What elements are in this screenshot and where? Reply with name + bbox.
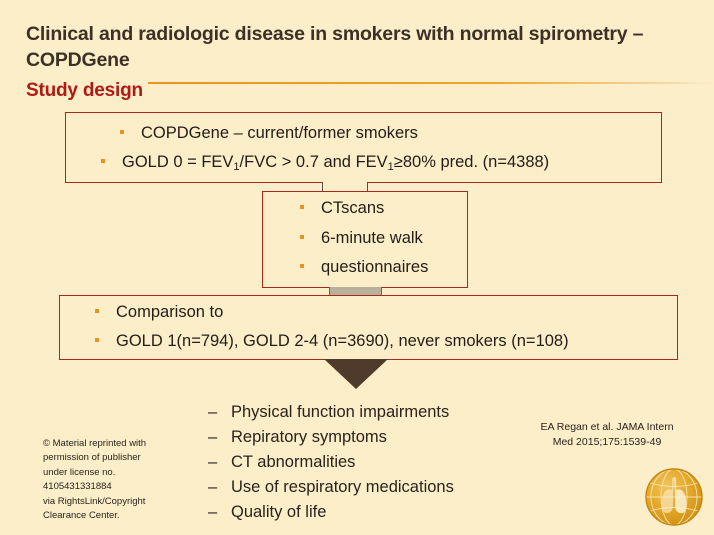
- dash-bullet-icon: –: [208, 400, 231, 425]
- list-item-label: Comparison to: [116, 303, 223, 322]
- copyright-line-1: © Material reprinted with: [43, 437, 183, 451]
- bullet-dot-icon: [300, 235, 304, 239]
- copyright-line-3: under license no.: [43, 466, 183, 480]
- list-item: – Physical function impairments: [208, 400, 454, 425]
- list-item: Comparison to: [95, 303, 223, 322]
- list-item-label: COPDGene – current/former smokers: [141, 124, 418, 143]
- copyright-line-6: Clearance Center.: [43, 509, 183, 523]
- slide-canvas: Clinical and radiologic disease in smoke…: [0, 0, 714, 535]
- list-item: GOLD 1(n=794), GOLD 2-4 (n=3690), never …: [95, 332, 569, 351]
- list-item-label: GOLD 0 = FEV1/FVC > 0.7 and FEV1≥80% pre…: [122, 153, 549, 172]
- list-item: – Quality of life: [208, 500, 454, 525]
- bullet-dot-icon: [95, 338, 99, 342]
- fev1-subscript-second: 1: [388, 161, 394, 173]
- copyright-line-5: via RightsLink/Copyright: [43, 495, 183, 509]
- dash-bullet-icon: –: [208, 425, 231, 450]
- dash-bullet-icon: –: [208, 475, 231, 500]
- flow-box-comparison: Comparison to GOLD 1(n=794), GOLD 2-4 (n…: [59, 295, 678, 360]
- title-divider-rule: [148, 82, 714, 84]
- dash-bullet-icon: –: [208, 500, 231, 525]
- citation-line-1: EA Regan et al. JAMA Intern: [527, 420, 687, 435]
- list-item-label: CT abnormalities: [231, 450, 355, 475]
- list-item-label: CTscans: [321, 199, 384, 218]
- outcomes-list: – Physical function impairments – Repira…: [208, 400, 454, 525]
- list-item: – CT abnormalities: [208, 450, 454, 475]
- dash-bullet-icon: –: [208, 450, 231, 475]
- list-item-label: Repiratory symptoms: [231, 425, 387, 450]
- gold-criteria-seg1: GOLD 0 = FEV: [122, 153, 233, 171]
- gold-criteria-seg2: /FVC > 0.7 and FEV: [240, 153, 388, 171]
- copyright-line-4: 4105431331884: [43, 480, 183, 494]
- list-item-label: GOLD 1(n=794), GOLD 2-4 (n=3690), never …: [116, 332, 569, 351]
- list-item-label: questionnaires: [321, 258, 428, 277]
- page-subtitle: Study design: [26, 80, 143, 102]
- list-item-label: 6-minute walk: [321, 229, 423, 248]
- flow-box-cohort: COPDGene – current/former smokers GOLD 0…: [65, 112, 662, 183]
- bullet-dot-icon: [300, 264, 304, 268]
- globe-lungs-logo: [642, 465, 706, 529]
- citation-block: EA Regan et al. JAMA Intern Med 2015;175…: [527, 420, 687, 450]
- bullet-dot-icon: [120, 130, 124, 134]
- list-item: COPDGene – current/former smokers: [120, 124, 418, 143]
- gold-criteria-seg3: ≥80% pred. (n=4388): [394, 153, 549, 171]
- list-item: CTscans: [300, 199, 384, 218]
- list-item-label: Use of respiratory medications: [231, 475, 454, 500]
- copyright-line-2: permission of publisher: [43, 451, 183, 465]
- citation-line-2: Med 2015;175:1539-49: [527, 435, 687, 450]
- fev1-subscript-first: 1: [233, 161, 239, 173]
- list-item: questionnaires: [300, 258, 428, 277]
- flow-box-measures: CTscans 6-minute walk questionnaires: [262, 191, 468, 288]
- list-item: 6-minute walk: [300, 229, 423, 248]
- list-item-label: Physical function impairments: [231, 400, 449, 425]
- bullet-dot-icon: [95, 309, 99, 313]
- list-item: – Repiratory symptoms: [208, 425, 454, 450]
- bullet-dot-icon: [300, 205, 304, 209]
- page-title: Clinical and radiologic disease in smoke…: [26, 22, 686, 73]
- bullet-dot-icon: [101, 159, 105, 163]
- list-item: GOLD 0 = FEV1/FVC > 0.7 and FEV1≥80% pre…: [101, 153, 549, 172]
- list-item: – Use of respiratory medications: [208, 475, 454, 500]
- arrow-down-icon: [324, 359, 388, 389]
- list-item-label: Quality of life: [231, 500, 326, 525]
- copyright-block: © Material reprinted with permission of …: [43, 437, 183, 524]
